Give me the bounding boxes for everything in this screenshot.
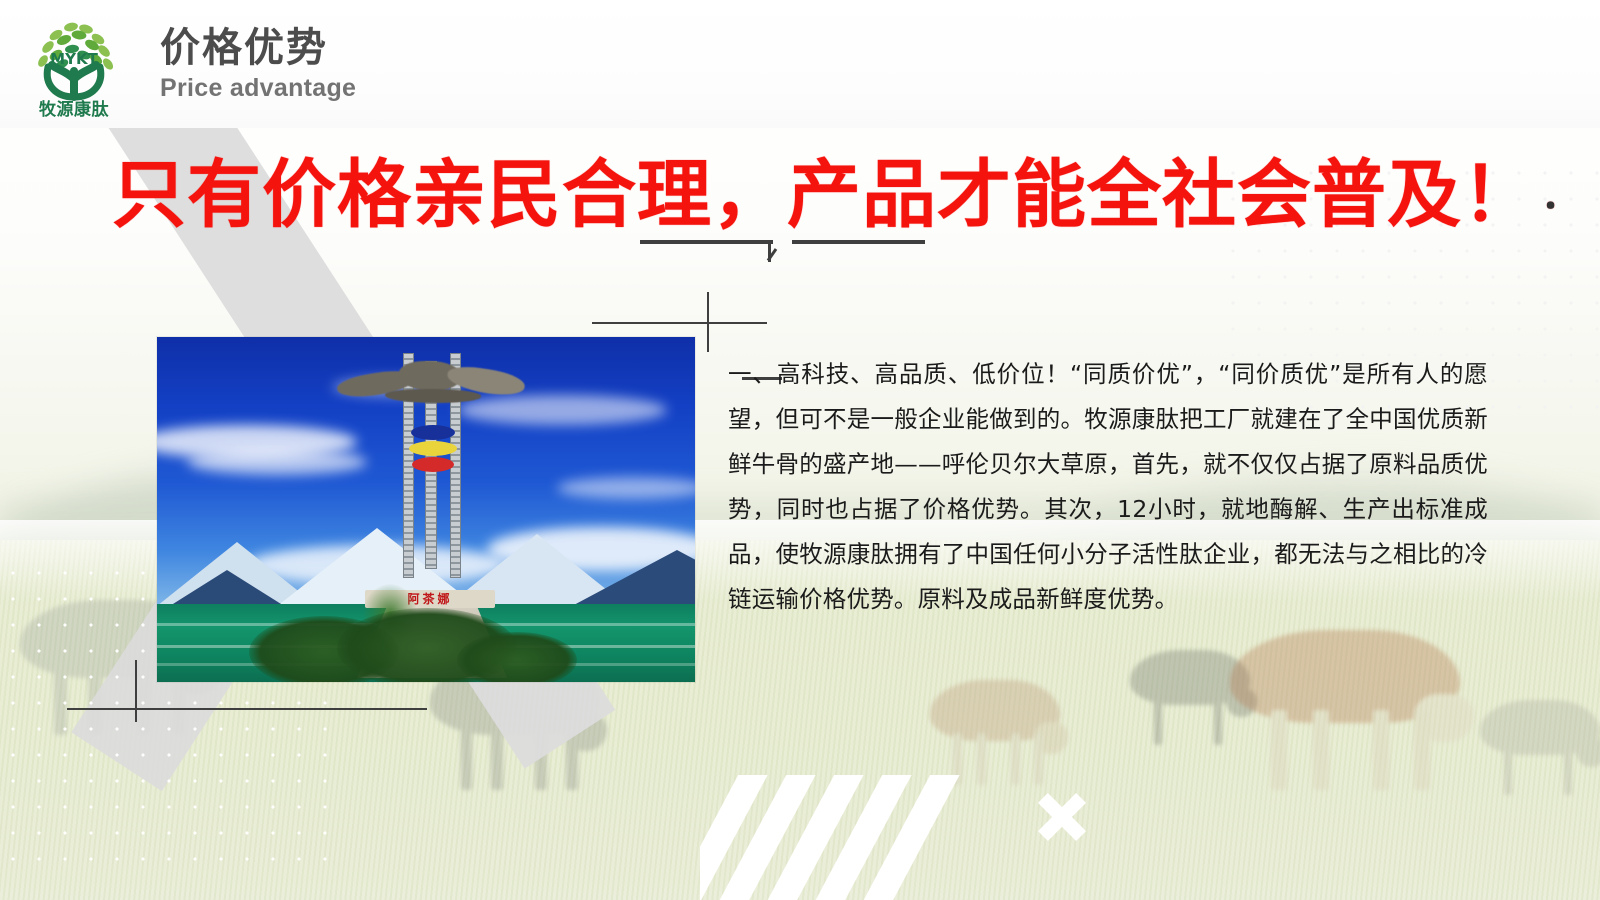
slide-header: MYKT 牧源康肽 价格优势 Price advantage [0,0,1600,128]
chevron-down-icon [768,240,784,262]
mykt-tree-logo: MYKT 牧源康肽 [26,9,122,119]
monument-grassland-photo: 阿茶娜 [157,337,695,682]
divider-bar-right [792,240,925,244]
slide-root: MYKT 牧源康肽 价格优势 Price advantage 只有价格亲民合理，… [0,0,1600,900]
headline: 只有价格亲民合理，产品才能全社会普及！． [112,135,1532,242]
background-cow [930,680,1060,785]
page-subtitle: Price advantage [160,76,356,101]
background-cow [1480,700,1600,795]
diagonal-stripes-decor [700,775,1040,900]
header-titles: 价格优势 Price advantage [160,28,356,101]
photo-horse-sculpture [337,355,527,411]
svg-text:牧源康肽: 牧源康肽 [39,99,109,119]
chevron-divider [640,240,925,266]
page-title: 价格优势 [160,28,356,68]
body-paragraph: 一、高科技、高品质、低价位！“同质价优”，“同价质优”是所有人的愿望，但可不是一… [728,352,1488,622]
headline-text: 只有价格亲民合理，产品才能全社会普及！ [112,152,1537,238]
photo-ring-red [412,457,454,472]
headline-trailing-dot: ． [1541,172,1582,218]
background-cow [1230,630,1460,790]
photo-ring-blue [411,425,455,440]
x-mark-decor [1035,790,1089,844]
photo-ring-yellow [409,441,457,456]
divider-bar-left [640,240,773,244]
